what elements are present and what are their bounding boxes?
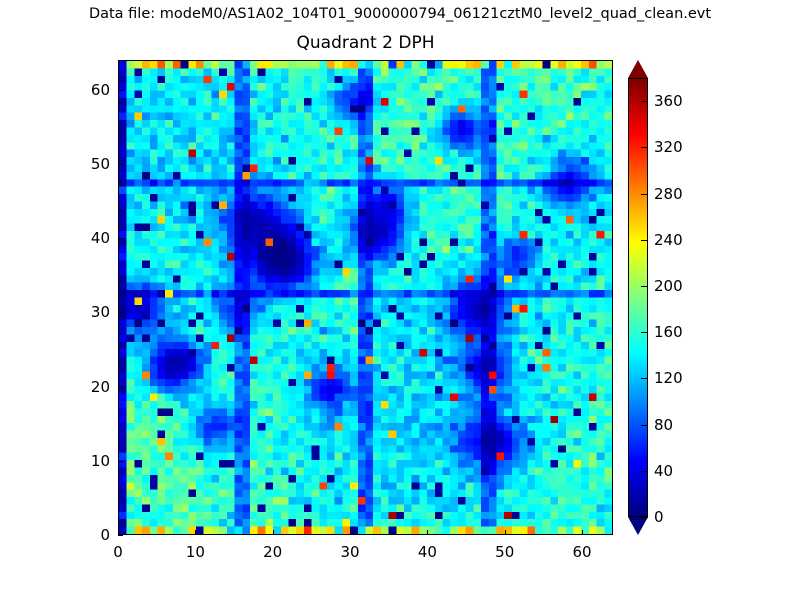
x-tick-mark [195,530,196,535]
colorbar-tick-mark [641,101,648,102]
colorbar-tick-mark [641,194,648,195]
colorbar-tick-mark [641,332,648,333]
colorbar-tick-label: 200 [654,277,683,295]
colorbar-extend-low-arrow [628,517,648,535]
x-tick-label: 50 [495,543,514,561]
colorbar-tick-mark [641,425,648,426]
colorbar-tick-label: 320 [654,138,683,156]
x-tick-mark [427,530,428,535]
figure-canvas: Data file: modeM0/AS1A02_104T01_90000007… [0,0,800,600]
x-tick-mark [118,530,119,535]
y-tick-label: 0 [60,526,110,544]
colorbar-tick-label: 280 [654,185,683,203]
datafile-label: Data file: modeM0/AS1A02_104T01_90000007… [0,6,800,22]
colorbar-tick-mark [641,240,648,241]
heatmap-axes [118,60,613,535]
x-tick-mark [505,530,506,535]
y-tick-label: 10 [60,452,110,470]
colorbar-tick-label: 80 [654,416,673,434]
x-tick-label: 60 [573,543,592,561]
x-tick-label: 0 [113,543,123,561]
colorbar-tick-label: 160 [654,323,683,341]
x-tick-mark [582,530,583,535]
colorbar [628,60,648,535]
colorbar-tick-mark [641,517,648,518]
colorbar-tick-mark [641,147,648,148]
x-tick-mark [273,530,274,535]
colorbar-tick-label: 240 [654,231,683,249]
y-tick-label: 30 [60,303,110,321]
page-title: Quadrant 2 DPH [118,33,613,53]
y-tick-mark [118,90,123,91]
y-tick-mark [118,535,123,536]
x-tick-label: 30 [340,543,359,561]
y-tick-mark [118,461,123,462]
y-tick-label: 20 [60,378,110,396]
y-tick-label: 60 [60,81,110,99]
x-tick-label: 20 [263,543,282,561]
x-tick-label: 10 [186,543,205,561]
heatmap-image [119,61,612,534]
colorbar-tick-label: 0 [654,508,664,526]
y-tick-mark [118,164,123,165]
colorbar-gradient-image [629,79,647,516]
colorbar-extend-high-arrow [628,60,648,78]
colorbar-tick-mark [641,471,648,472]
colorbar-tick-label: 360 [654,92,683,110]
y-tick-mark [118,238,123,239]
colorbar-tick-label: 120 [654,369,683,387]
colorbar-tick-label: 40 [654,462,673,480]
x-tick-label: 40 [418,543,437,561]
y-tick-label: 50 [60,155,110,173]
y-tick-label: 40 [60,229,110,247]
y-tick-mark [118,312,123,313]
colorbar-tick-mark [641,286,648,287]
x-tick-mark [350,530,351,535]
colorbar-tick-mark [641,378,648,379]
y-tick-mark [118,387,123,388]
colorbar-gradient [628,78,648,517]
